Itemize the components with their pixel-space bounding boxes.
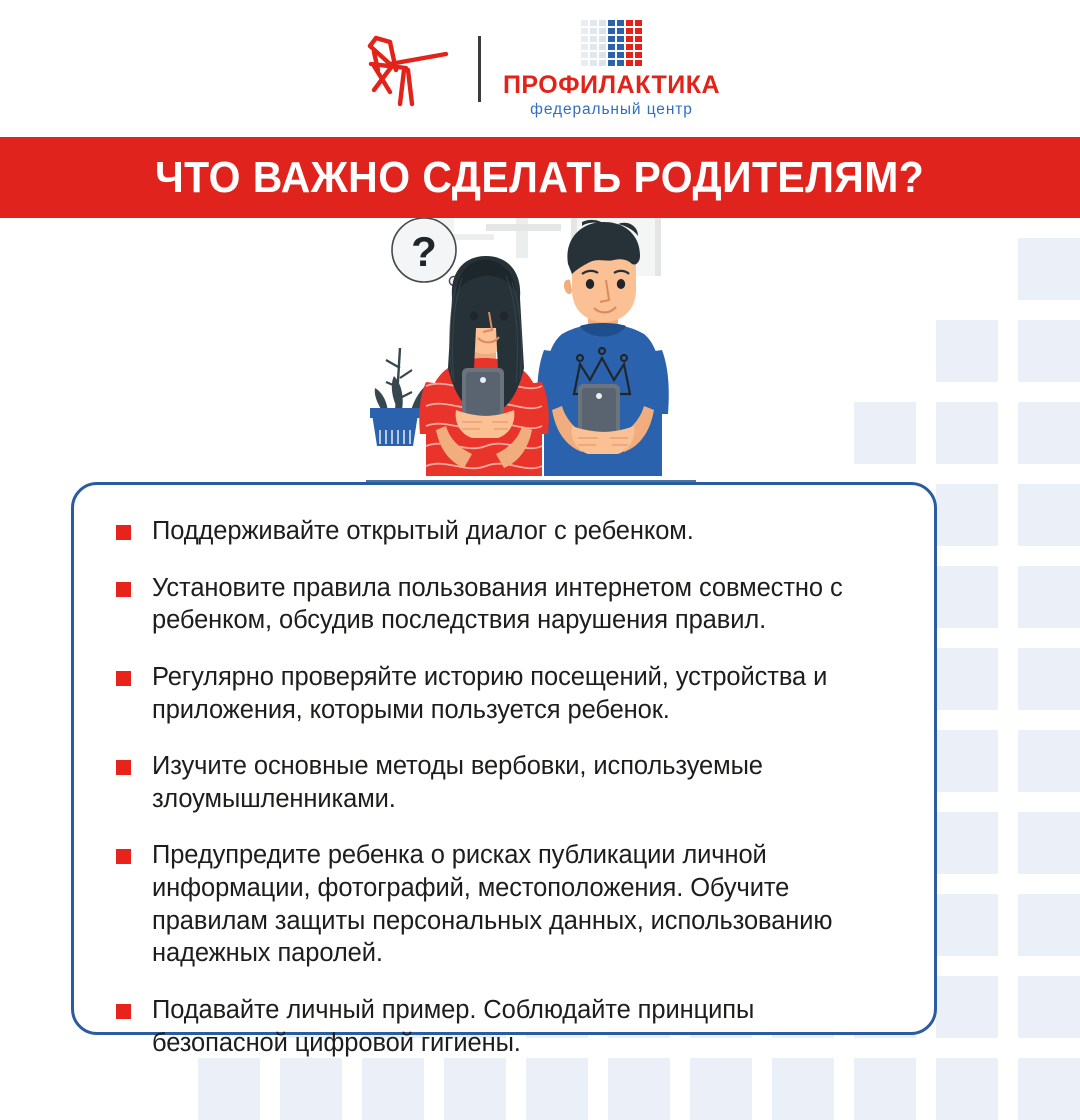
advice-bullet-text: Предупредите ребенка о рисках публикации… [152,839,892,970]
brand-grid-cell [599,60,606,66]
headline-band: ЧТО ВАЖНО СДЕЛАТЬ РОДИТЕЛЯМ? [0,137,1080,218]
brand-grid-cell [635,44,642,50]
background-square [936,320,998,382]
brand-grid-cell [635,36,642,42]
brand-grid-cell [599,44,606,50]
background-square [690,1058,752,1120]
chair-logo-icon [360,30,456,108]
background-square [936,402,998,464]
advice-bullet-text: Регулярно проверяйте историю посещений, … [152,661,892,726]
advice-bullet-item: Поддерживайте открытый диалог с ребенком… [116,515,892,548]
advice-bullet-list: Поддерживайте открытый диалог с ребенком… [116,515,892,1059]
brand-grid-cell [581,28,588,34]
background-square [936,566,998,628]
brand-block: ПРОФИЛАКТИКА федеральный центр [503,20,720,118]
background-square [936,1058,998,1120]
background-square [1018,402,1080,464]
brand-grid-cell [599,28,606,34]
brand-grid-cell [617,28,624,34]
background-square [526,1058,588,1120]
brand-grid-cell [608,28,615,34]
brand-subtitle: федеральный центр [530,102,693,118]
brand-grid-cell [626,60,633,66]
bullet-square-icon [116,525,131,540]
advice-bullet-text: Изучите основные методы вербовки, исполь… [152,750,892,815]
brand-grid-cell [617,36,624,42]
advice-bullet-item: Подавайте личный пример. Соблюдайте прин… [116,994,892,1059]
brand-grid-cell [617,60,624,66]
brand-grid-cell [590,36,597,42]
brand-grid-cell [626,20,633,26]
brand-grid-cell [590,20,597,26]
background-square [1018,566,1080,628]
logo-bar: ПРОФИЛАКТИКА федеральный центр [0,0,1080,137]
bullet-square-icon [116,671,131,686]
brand-grid-cell [626,44,633,50]
background-square [936,730,998,792]
background-square [1018,320,1080,382]
bullet-square-icon [116,760,131,775]
brand-grid-cell [581,52,588,58]
background-square [608,1058,670,1120]
brand-grid-icon [581,20,642,66]
advice-bullet-item: Регулярно проверяйте историю посещений, … [116,661,892,726]
background-square [198,1058,260,1120]
background-square [1018,484,1080,546]
brand-grid-cell [581,20,588,26]
brand-grid-cell [590,52,597,58]
bullet-square-icon [116,1004,131,1019]
background-square [1018,812,1080,874]
brand-grid-cell [635,52,642,58]
bullet-square-icon [116,582,131,597]
advice-bullet-item: Предупредите ребенка о рисках публикации… [116,839,892,970]
background-square [1018,648,1080,710]
background-square [772,1058,834,1120]
page-title: ЧТО ВАЖНО СДЕЛАТЬ РОДИТЕЛЯМ? [155,153,924,203]
brand-grid-cell [590,28,597,34]
brand-grid-cell [635,60,642,66]
logo-divider [478,36,481,102]
brand-grid-cell [635,20,642,26]
background-square [1018,730,1080,792]
background-square [936,484,998,546]
brand-grid-cell [635,28,642,34]
brand-grid-cell [581,44,588,50]
brand-grid-cell [590,60,597,66]
advice-bullet-item: Изучите основные методы вербовки, исполь… [116,750,892,815]
background-square [936,812,998,874]
background-square [936,894,998,956]
brand-grid-cell [617,20,624,26]
brand-grid-cell [590,44,597,50]
potted-plant [370,348,428,446]
background-square [1018,238,1080,300]
brand-grid-cell [608,44,615,50]
brand-grid-cell [599,52,606,58]
background-square [854,402,916,464]
background-square [444,1058,506,1120]
advice-bullet-text: Поддерживайте открытый диалог с ребенком… [152,515,694,548]
advice-bullet-text: Подавайте личный пример. Соблюдайте прин… [152,994,892,1059]
advice-bullet-text: Установите правила пользования интернето… [152,572,892,637]
brand-grid-cell [608,36,615,42]
brand-grid-cell [581,60,588,66]
brand-grid-cell [581,36,588,42]
background-square [1018,1058,1080,1120]
brand-title: ПРОФИЛАКТИКА [503,73,720,98]
brand-grid-cell [617,44,624,50]
brand-grid-cell [608,52,615,58]
brand-grid-cell [608,60,615,66]
background-square [936,648,998,710]
background-square [936,976,998,1038]
brand-grid-cell [599,20,606,26]
brand-grid-cell [599,36,606,42]
background-square [1018,894,1080,956]
brand-grid-cell [626,52,633,58]
brand-grid-cell [626,36,633,42]
advice-card: Поддерживайте открытый диалог с ребенком… [71,482,937,1035]
brand-grid-cell [608,20,615,26]
parents-with-smartphones-illustration: ? [366,218,696,493]
advice-bullet-item: Установите правила пользования интернето… [116,572,892,637]
background-square [854,1058,916,1120]
background-square [1018,976,1080,1038]
background-square [280,1058,342,1120]
svg-text:?: ? [411,228,437,275]
background-square [362,1058,424,1120]
brand-grid-cell [617,52,624,58]
logo-wrap: ПРОФИЛАКТИКА федеральный центр [360,20,720,118]
bullet-square-icon [116,849,131,864]
brand-grid-cell [626,28,633,34]
woman-figure [419,256,549,476]
